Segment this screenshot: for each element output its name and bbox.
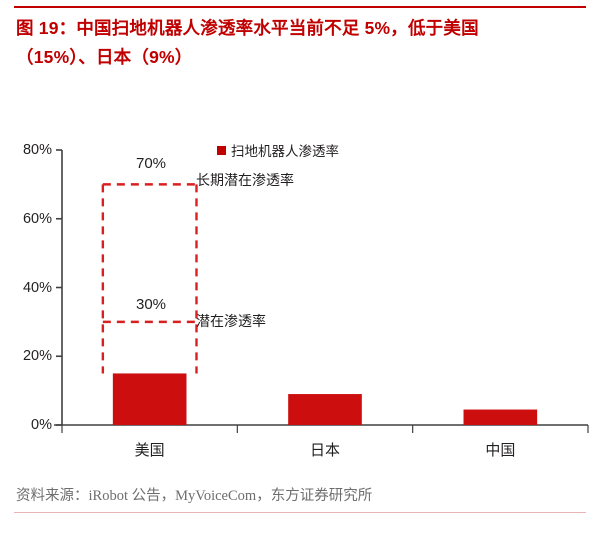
source-note: 资料来源：iRobot 公告，MyVoiceCom，东方证券研究所 <box>16 484 372 505</box>
bar-日本 <box>288 394 362 425</box>
y-axis-tick-0: 0% <box>6 417 52 433</box>
bar-美国 <box>113 373 187 425</box>
page-title-line-2: （15%）、日本（9%） <box>16 43 586 72</box>
y-axis-tick-20: 20% <box>6 348 52 364</box>
header-rule <box>14 6 586 8</box>
page-title-line-1: 图 19：中国扫地机器人渗透率水平当前不足 5%，低于美国 <box>16 14 586 43</box>
upper-reference-label: 长期潜在渗透率 <box>196 170 294 190</box>
lower-reference-value: 30% <box>136 296 166 313</box>
y-axis-tick-80: 80% <box>6 142 52 158</box>
bar-中国 <box>464 410 538 425</box>
bar-chart-svg <box>0 110 600 460</box>
upper-reference-value: 70% <box>136 155 166 172</box>
chart-plot-area <box>0 110 600 460</box>
y-axis-tick-labels: 0%20%40%60%80% <box>0 0 52 537</box>
y-axis-tick-40: 40% <box>6 280 52 296</box>
lower-reference-label: 潜在渗透率 <box>196 311 266 331</box>
x-axis-label-美国: 美国 <box>135 439 165 460</box>
footer-rule <box>14 512 586 513</box>
page-title: 图 19：中国扫地机器人渗透率水平当前不足 5%，低于美国 （15%）、日本（9… <box>16 14 586 72</box>
x-axis-label-中国: 中国 <box>485 439 515 460</box>
x-axis-label-日本: 日本 <box>310 439 340 460</box>
y-axis-tick-60: 60% <box>6 211 52 227</box>
